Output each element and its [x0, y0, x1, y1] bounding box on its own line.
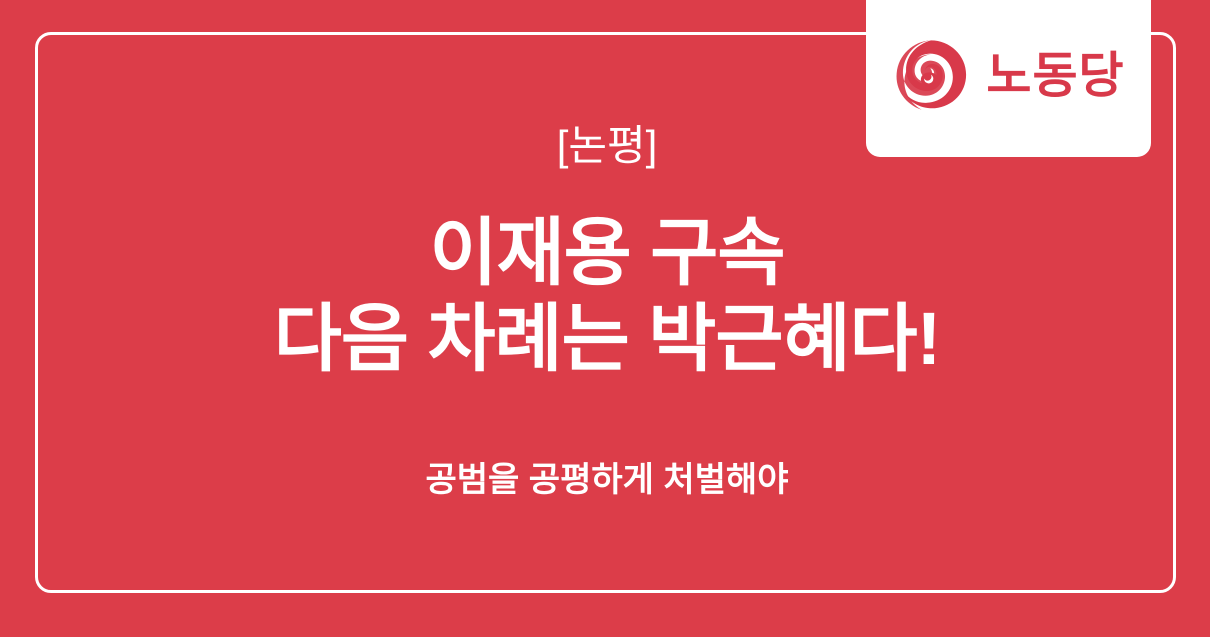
card-content: [논평] 이재용 구속 다음 차례는 박근혜다! 공범을 공평하게 처벌해야	[38, 32, 1176, 593]
headline-line-1: 이재용 구속	[274, 210, 940, 296]
headline-line-2: 다음 차례는 박근혜다!	[274, 296, 940, 382]
commentary-card: 노동당 [논평] 이재용 구속 다음 차례는 박근혜다! 공범을 공평하게 처벌…	[0, 0, 1210, 637]
headline: 이재용 구속 다음 차례는 박근혜다!	[274, 210, 940, 382]
kicker-label: [논평]	[557, 124, 658, 168]
subhead-text: 공범을 공평하게 처벌해야	[426, 460, 789, 501]
